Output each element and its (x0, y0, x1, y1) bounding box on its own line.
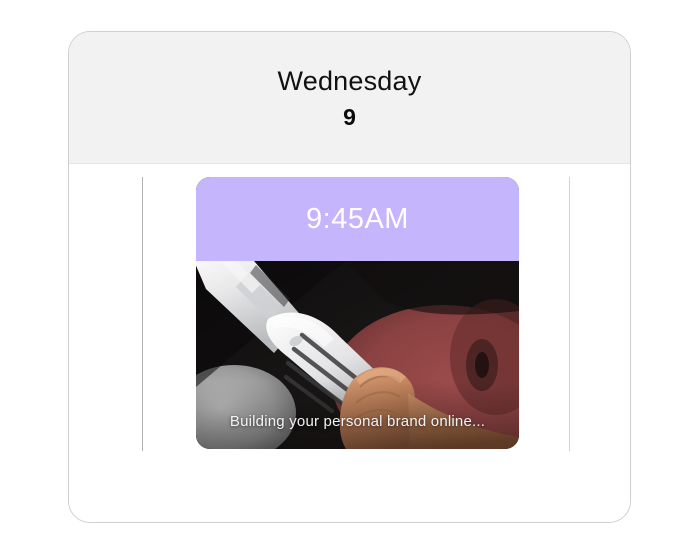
event-card[interactable]: 9:45AM (196, 177, 519, 449)
day-card-header: Wednesday 9 (69, 32, 630, 164)
timeline-rail-right (569, 177, 570, 451)
event-time-badge: 9:45AM (196, 177, 519, 261)
day-name-label: Wednesday (278, 66, 422, 97)
event-thumbnail[interactable]: Building your personal brand online... (196, 261, 519, 449)
event-caption: Building your personal brand online... (196, 413, 519, 430)
timeline-rail-left (142, 177, 143, 451)
day-schedule-body: 9:45AM (69, 164, 630, 522)
day-number-label: 9 (343, 106, 356, 129)
day-card: Wednesday 9 9:45AM (68, 31, 631, 523)
event-time-label: 9:45AM (306, 203, 409, 236)
